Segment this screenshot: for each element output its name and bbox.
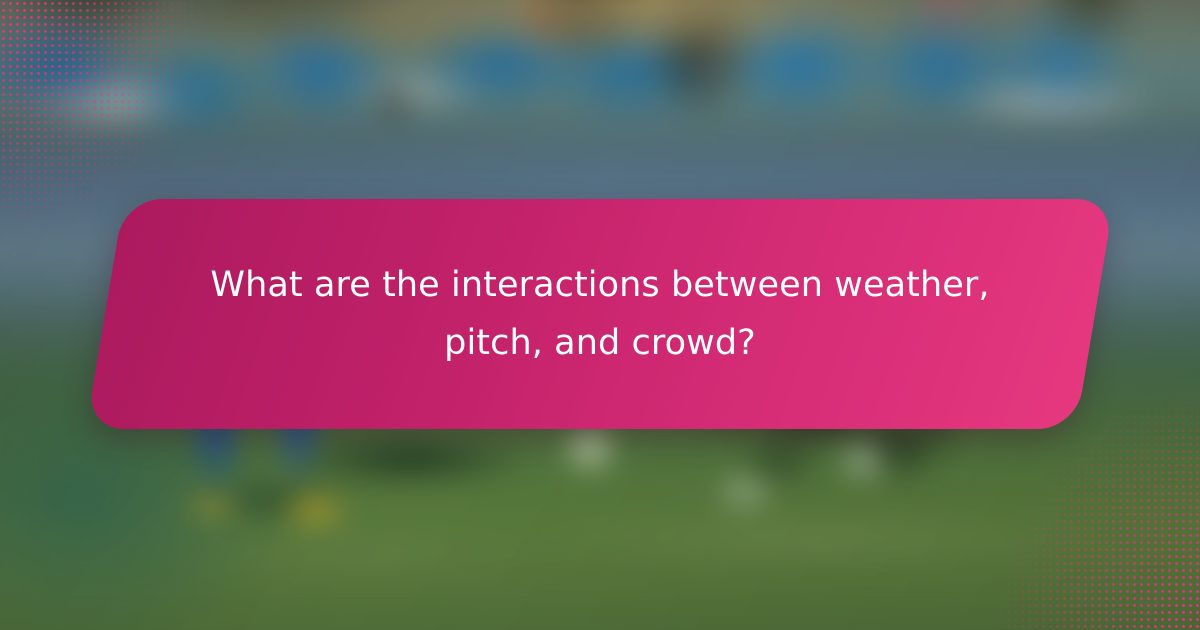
question-line-1: What are the interactions between weathe… (210, 257, 989, 313)
question-card-content: What are the interactions between weathe… (105, 199, 1095, 429)
social-card-canvas: What are the interactions between weathe… (0, 0, 1200, 630)
question-line-2: pitch, and crowd? (444, 315, 756, 371)
question-card: What are the interactions between weathe… (105, 199, 1095, 429)
